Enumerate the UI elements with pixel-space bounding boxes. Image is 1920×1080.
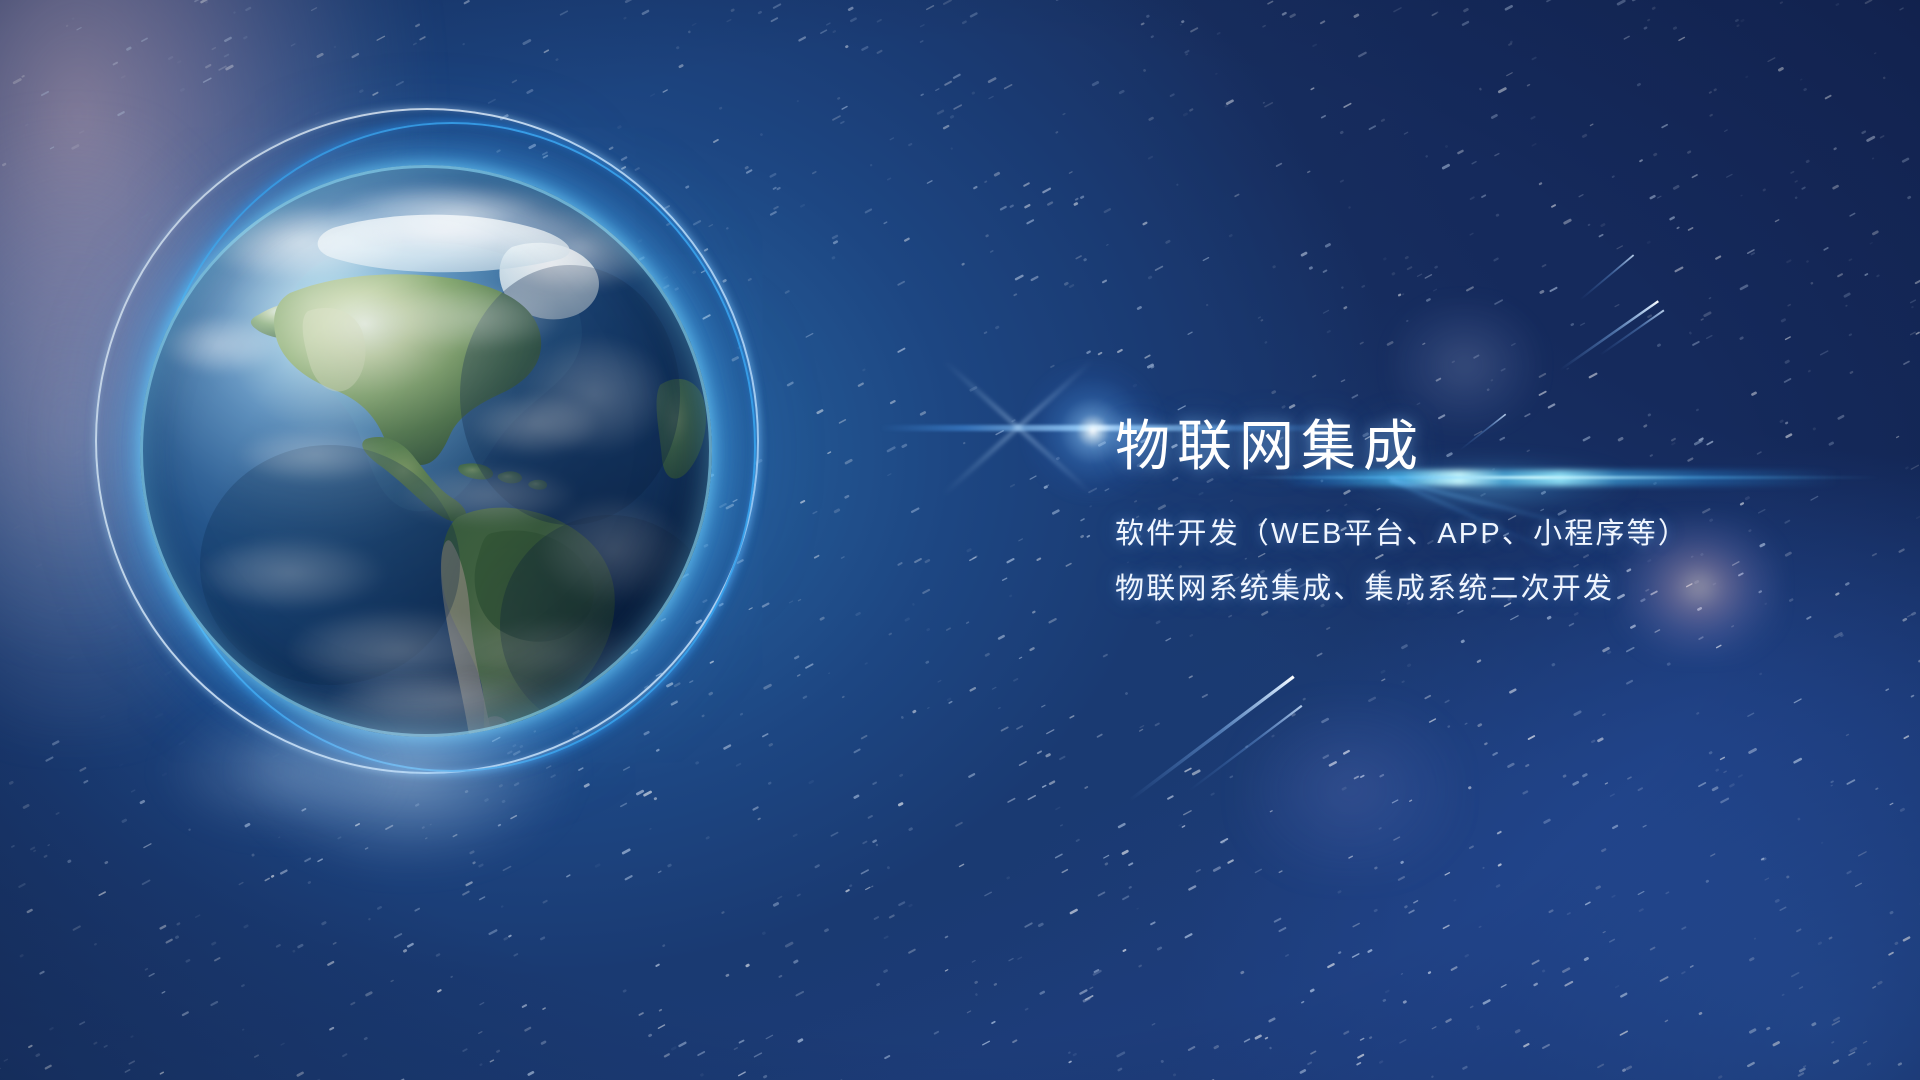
globe-atmosphere-ring — [140, 165, 712, 737]
banner-subtitle-2: 物联网系统集成、集成系统二次开发 — [1115, 572, 1855, 607]
banner-subtitle-1: 软件开发（WEB平台、APP、小程序等） — [1115, 517, 1855, 552]
earth-globe — [140, 165, 712, 737]
banner-stage: 物联网集成 软件开发（WEB平台、APP、小程序等） 物联网系统集成、集成系统二… — [0, 0, 1920, 1080]
banner-text-block: 物联网集成 软件开发（WEB平台、APP、小程序等） 物联网系统集成、集成系统二… — [1115, 414, 1855, 608]
banner-headline: 物联网集成 — [1115, 414, 1855, 479]
